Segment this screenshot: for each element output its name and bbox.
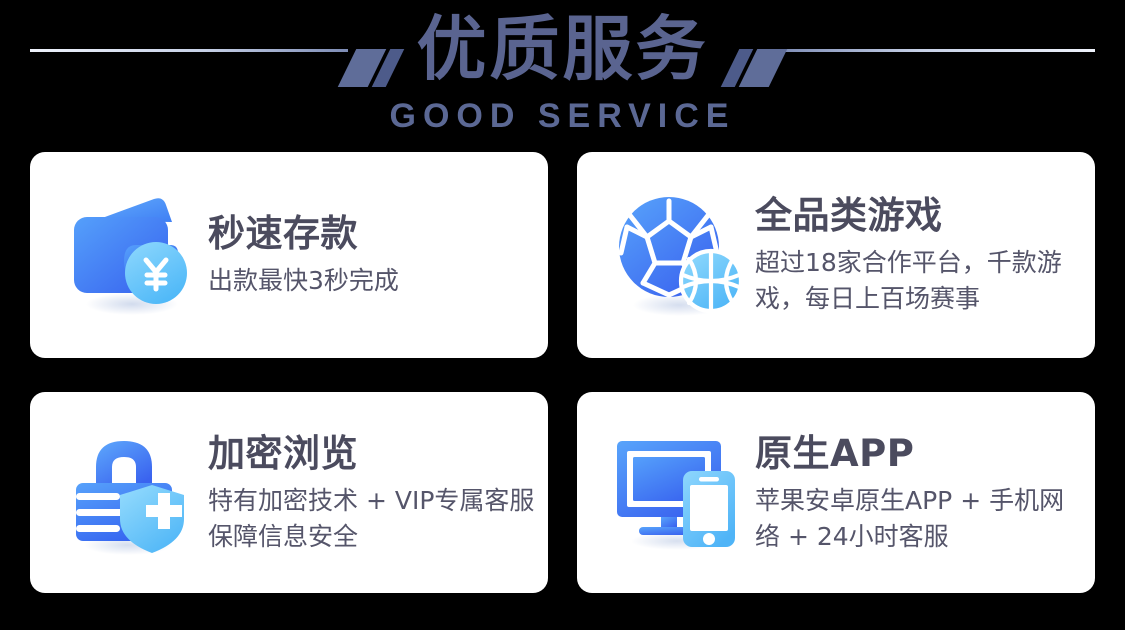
card-description: 出款最快3秒完成 (208, 263, 399, 299)
card-text-block: 原生APP 苹果安卓原生APP + 手机网络 + 24小时客服 (749, 431, 1095, 555)
monitor-phone-icon (609, 423, 749, 563)
banner-header: 优质服务 GOOD SERVICE (0, 0, 1125, 140)
lock-shield-icon (62, 423, 202, 563)
promo-banner: 优质服务 GOOD SERVICE (0, 0, 1125, 630)
card-title: 原生APP (755, 431, 1085, 477)
card-title: 秒速存款 (208, 211, 399, 257)
soccer-basketball-icon (609, 185, 749, 325)
card-description: 超过18家合作平台，千款游戏，每日上百场赛事 (755, 245, 1085, 317)
feature-card-native-app[interactable]: 原生APP 苹果安卓原生APP + 手机网络 + 24小时客服 (577, 392, 1095, 593)
feature-card-deposit[interactable]: 秒速存款 出款最快3秒完成 (30, 152, 548, 358)
card-text-block: 秒速存款 出款最快3秒完成 (202, 211, 409, 299)
feature-card-encryption[interactable]: 加密浏览 特有加密技术 + VIP专属客服保障信息安全 (30, 392, 548, 593)
feature-card-games[interactable]: 全品类游戏 超过18家合作平台，千款游戏，每日上百场赛事 (577, 152, 1095, 358)
card-title: 全品类游戏 (755, 193, 1085, 239)
card-description: 苹果安卓原生APP + 手机网络 + 24小时客服 (755, 483, 1085, 555)
wallet-yen-icon (62, 185, 202, 325)
card-text-block: 全品类游戏 超过18家合作平台，千款游戏，每日上百场赛事 (749, 193, 1095, 317)
page-subtitle: GOOD SERVICE (0, 96, 1125, 136)
feature-card-grid: 秒速存款 出款最快3秒完成 (30, 152, 1095, 593)
page-title: 优质服务 (0, 8, 1125, 90)
card-description: 特有加密技术 + VIP专属客服保障信息安全 (208, 483, 538, 555)
card-text-block: 加密浏览 特有加密技术 + VIP专属客服保障信息安全 (202, 431, 548, 555)
card-title: 加密浏览 (208, 431, 538, 477)
